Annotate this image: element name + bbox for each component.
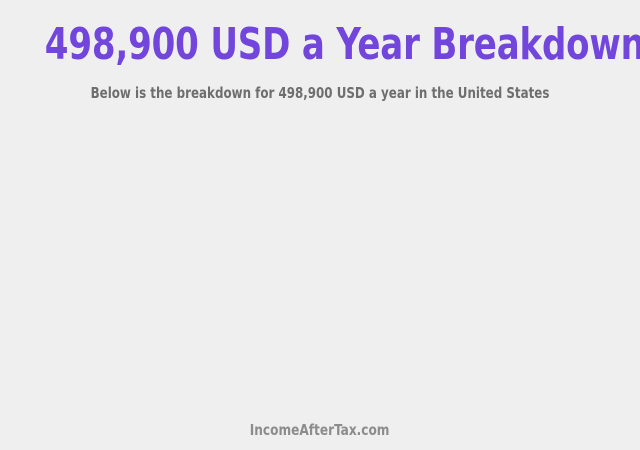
income-breakdown-page: 498,900 USD a Year Breakdown Below is th…: [0, 0, 640, 450]
chart-plot-area: Plot area is blank in the screenshot; no…: [0, 112, 640, 410]
page-subtitle: Below is the breakdown for 498,900 USD a…: [38, 84, 601, 102]
page-title: 498,900 USD a Year Breakdown: [45, 21, 595, 69]
footer-brand-label: IncomeAfterTax.com: [250, 421, 390, 439]
page-footer: IncomeAfterTax.com: [0, 421, 640, 440]
